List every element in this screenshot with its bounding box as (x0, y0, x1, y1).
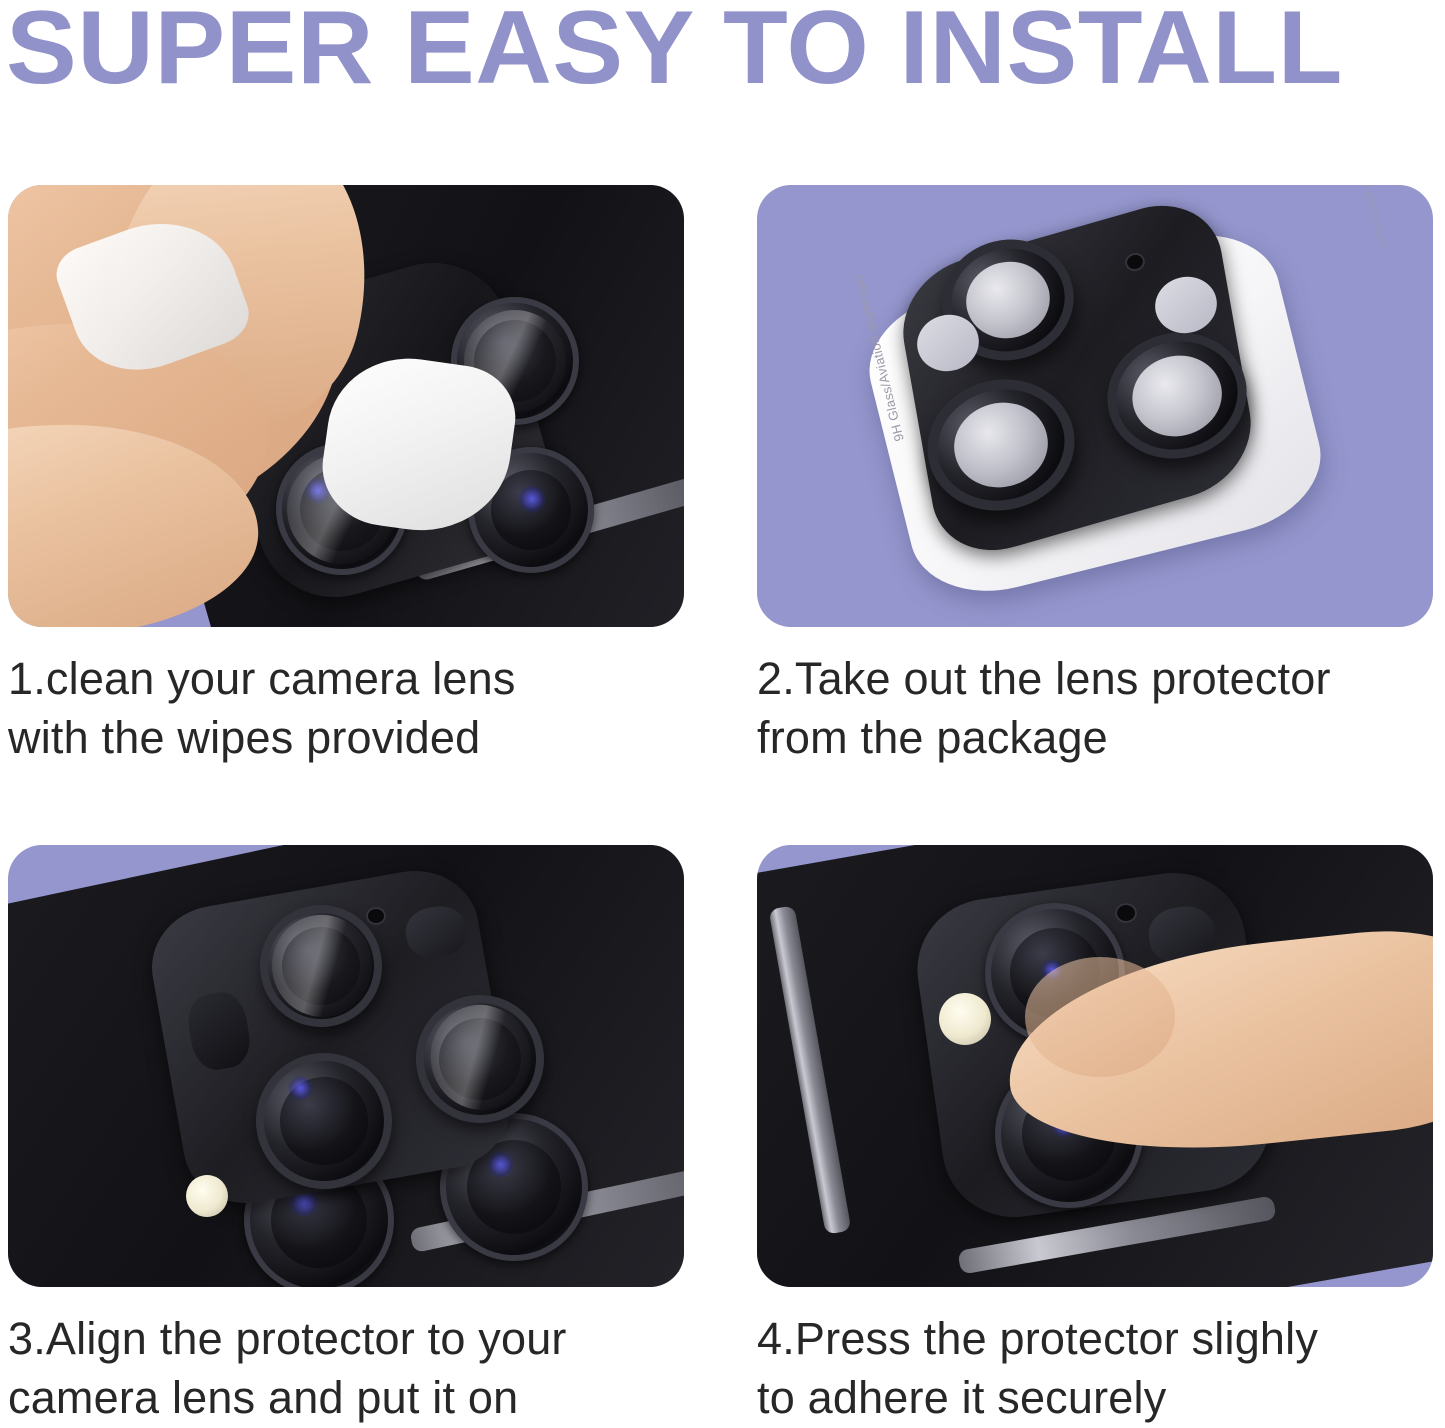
step-3-photo (8, 845, 684, 1287)
install-step-2: 9H Glass/Aviation aluminum 9H Glass/Avia… (757, 185, 1445, 768)
mic-hole-icon (366, 907, 386, 925)
flash-icon (939, 993, 991, 1045)
step-4-caption: 4.Press the protector slighly to adhere … (757, 1309, 1445, 1428)
step-2-caption: 2.Take out the lens protector from the p… (757, 649, 1445, 768)
step-4-photo (757, 845, 1433, 1287)
page-title-bar: SUPER EASY TO INSTALL (0, 0, 1445, 110)
page-title: SUPER EASY TO INSTALL (6, 0, 1343, 106)
backing-sheet-label: 9H Glass/Aviation aluminum (1336, 185, 1392, 250)
install-step-3: 3.Align the protector to your camera len… (8, 845, 698, 1428)
step-2-photo: 9H Glass/Aviation aluminum 9H Glass/Avia… (757, 185, 1433, 627)
install-step-1: 1.clean your camera lens with the wipes … (8, 185, 698, 768)
backing-sheet-label: 9H Glass/Aviation aluminum (851, 274, 907, 443)
step-1-caption: 1.clean your camera lens with the wipes … (8, 649, 698, 768)
mic-hole-icon (1115, 903, 1137, 923)
install-step-4: 4.Press the protector slighly to adhere … (757, 845, 1445, 1428)
step-1-photo (8, 185, 684, 627)
install-steps-grid: 1.clean your camera lens with the wipes … (0, 185, 1445, 1420)
fingernail-icon (1025, 957, 1175, 1077)
step-3-caption: 3.Align the protector to your camera len… (8, 1309, 698, 1428)
